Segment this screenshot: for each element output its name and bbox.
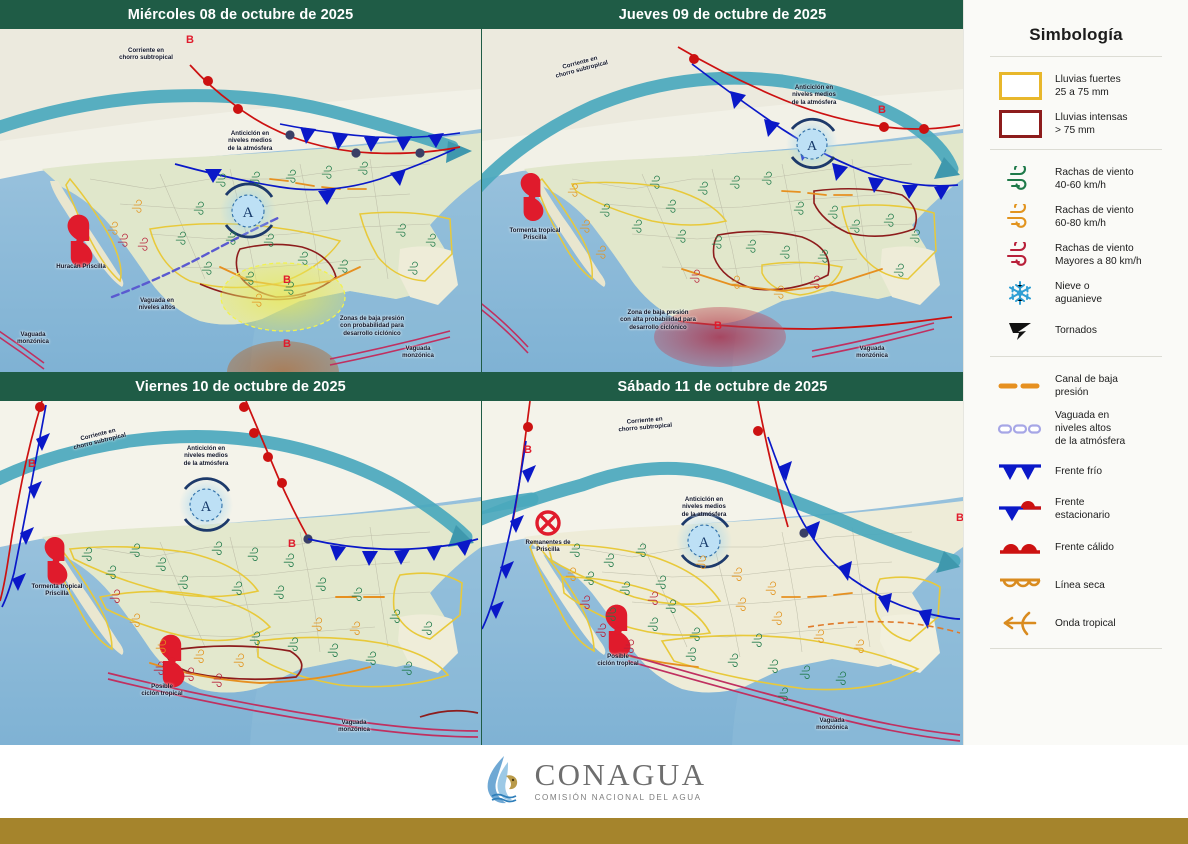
legend-item-wind-60-80[interactable]: Rachas de viento 60-80 km/h bbox=[978, 198, 1176, 236]
panel-title-thursday: Jueves 09 de octubre de 2025 bbox=[482, 0, 963, 29]
legend-label-rain-heavy: Lluvias fuertes 25 a 75 mm bbox=[1055, 73, 1121, 99]
panel-title-wednesday: Miércoles 08 de octubre de 2025 bbox=[0, 0, 481, 29]
conagua-logo: CONAGUA COMISIÓN NACIONAL DEL AGUA bbox=[482, 754, 707, 806]
legend-item-wind-40-60[interactable]: Rachas de viento 40-60 km/h bbox=[978, 160, 1176, 198]
legend-group-rain: Lluvias fuertes 25 a 75 mm Lluvias inten… bbox=[976, 57, 1176, 149]
svg-text:B: B bbox=[878, 104, 886, 116]
svg-text:B: B bbox=[288, 538, 296, 550]
tornado-icon bbox=[996, 316, 1044, 346]
legend-item-rain-intense[interactable]: Lluvias intensas > 75 mm bbox=[978, 105, 1176, 143]
map-graphic-saturday: A bbox=[482, 401, 963, 745]
conagua-subtitle: COMISIÓN NACIONAL DEL AGUA bbox=[535, 793, 707, 802]
panel-title-saturday: Sábado 11 de octubre de 2025 bbox=[482, 373, 963, 401]
legend-title: Simbología bbox=[976, 0, 1176, 56]
map-graphic-thursday: A bbox=[482, 29, 963, 372]
legend-label-dry-line: Línea seca bbox=[1055, 579, 1105, 592]
legend-item-dry-line[interactable]: Línea seca bbox=[978, 566, 1176, 604]
map-canvas-thursday[interactable]: A bbox=[482, 29, 963, 372]
legend-item-snow[interactable]: Nieve o aguanieve bbox=[978, 274, 1176, 312]
dry-line-icon bbox=[996, 570, 1044, 600]
legend-label-cold-front: Frente frío bbox=[1055, 465, 1102, 478]
legend-label-tropical-wave: Onda tropical bbox=[1055, 617, 1116, 630]
wind-gust-orange-icon bbox=[996, 202, 1044, 232]
svg-text:A: A bbox=[699, 535, 710, 551]
panel-title-friday: Viernes 10 de octubre de 2025 bbox=[0, 373, 481, 401]
legend-label-stationary-front: Frente estacionario bbox=[1055, 496, 1110, 522]
legend-label-snow: Nieve o aguanieve bbox=[1055, 280, 1102, 306]
legend-divider-4 bbox=[990, 648, 1162, 649]
conagua-wordmark: CONAGUA bbox=[535, 759, 707, 790]
svg-text:B: B bbox=[524, 444, 532, 456]
low-pressure-channel-icon bbox=[996, 371, 1044, 401]
map-canvas-wednesday[interactable]: A bbox=[0, 29, 481, 372]
legend-item-stationary-front[interactable]: Frente estacionario bbox=[978, 490, 1176, 528]
map-panel-friday[interactable]: Viernes 10 de octubre de 2025 bbox=[0, 373, 481, 745]
footer-gold-bar bbox=[0, 818, 1188, 844]
legend-label-wind-60-80: Rachas de viento 60-80 km/h bbox=[1055, 204, 1134, 230]
legend-group-wind: Rachas de viento 40-60 km/h Rachas de vi… bbox=[976, 150, 1176, 356]
legend-item-tropical-wave[interactable]: Onda tropical bbox=[978, 604, 1176, 642]
footer-logo-area: CONAGUA COMISIÓN NACIONAL DEL AGUA bbox=[0, 745, 1188, 815]
map-panel-wednesday[interactable]: Miércoles 08 de octubre de 2025 bbox=[0, 0, 481, 372]
svg-text:A: A bbox=[201, 499, 212, 515]
svg-text:A: A bbox=[807, 139, 818, 154]
rain-intense-swatch-icon bbox=[996, 109, 1044, 139]
legend-label-tornado: Tornados bbox=[1055, 324, 1097, 337]
rain-heavy-swatch-icon bbox=[996, 71, 1044, 101]
wind-gust-red-icon bbox=[996, 240, 1044, 270]
legend-item-upper-trough[interactable]: Vaguada en niveles altos de la atmósfera bbox=[978, 405, 1176, 452]
stationary-front-icon bbox=[996, 494, 1044, 524]
map-graphic-friday: A bbox=[0, 401, 481, 745]
legend-panel: Simbología Lluvias fuertes 25 a 75 mm Ll… bbox=[963, 0, 1188, 745]
legend-label-low-pressure-channel: Canal de baja presión bbox=[1055, 373, 1118, 399]
upper-level-trough-icon bbox=[996, 414, 1044, 444]
legend-item-rain-heavy[interactable]: Lluvias fuertes 25 a 75 mm bbox=[978, 67, 1176, 105]
legend-label-wind-over-80: Rachas de viento Mayores a 80 km/h bbox=[1055, 242, 1142, 268]
wind-gust-green-icon bbox=[996, 164, 1044, 194]
conagua-emblem-icon bbox=[482, 754, 526, 806]
map-graphic-wednesday: A bbox=[0, 29, 481, 372]
legend-item-wind-over-80[interactable]: Rachas de viento Mayores a 80 km/h bbox=[978, 236, 1176, 274]
map-panels-grid: Miércoles 08 de octubre de 2025 bbox=[0, 0, 963, 745]
legend-label-rain-intense: Lluvias intensas > 75 mm bbox=[1055, 111, 1128, 137]
legend-item-cold-front[interactable]: Frente frío bbox=[978, 452, 1176, 490]
tropical-wave-icon bbox=[996, 608, 1044, 638]
svg-text:B: B bbox=[283, 274, 291, 286]
legend-label-upper-trough: Vaguada en niveles altos de la atmósfera bbox=[1055, 409, 1125, 448]
svg-text:A: A bbox=[243, 205, 254, 221]
cold-front-icon bbox=[996, 456, 1044, 486]
legend-item-warm-front[interactable]: Frente cálido bbox=[978, 528, 1176, 566]
legend-item-low-pressure-channel[interactable]: Canal de baja presión bbox=[978, 367, 1176, 405]
map-panel-thursday[interactable]: Jueves 09 de octubre de 2025 bbox=[482, 0, 963, 372]
map-panel-saturday[interactable]: Sábado 11 de octubre de 2025 bbox=[482, 373, 963, 745]
map-canvas-saturday[interactable]: A bbox=[482, 401, 963, 745]
weather-forecast-infographic: Miércoles 08 de octubre de 2025 bbox=[0, 0, 1188, 844]
svg-text:B: B bbox=[714, 320, 722, 332]
legend-group-fronts: Canal de baja presión Vaguada en niveles… bbox=[976, 357, 1176, 648]
map-canvas-friday[interactable]: A bbox=[0, 401, 481, 745]
snow-icon bbox=[996, 278, 1044, 308]
legend-label-warm-front: Frente cálido bbox=[1055, 541, 1114, 554]
legend-label-wind-40-60: Rachas de viento 40-60 km/h bbox=[1055, 166, 1134, 192]
svg-text:B: B bbox=[956, 512, 963, 524]
legend-item-tornado[interactable]: Tornados bbox=[978, 312, 1176, 350]
svg-text:B: B bbox=[28, 458, 36, 470]
svg-text:B: B bbox=[186, 34, 194, 46]
warm-front-icon bbox=[996, 532, 1044, 562]
svg-text:B: B bbox=[283, 338, 291, 350]
